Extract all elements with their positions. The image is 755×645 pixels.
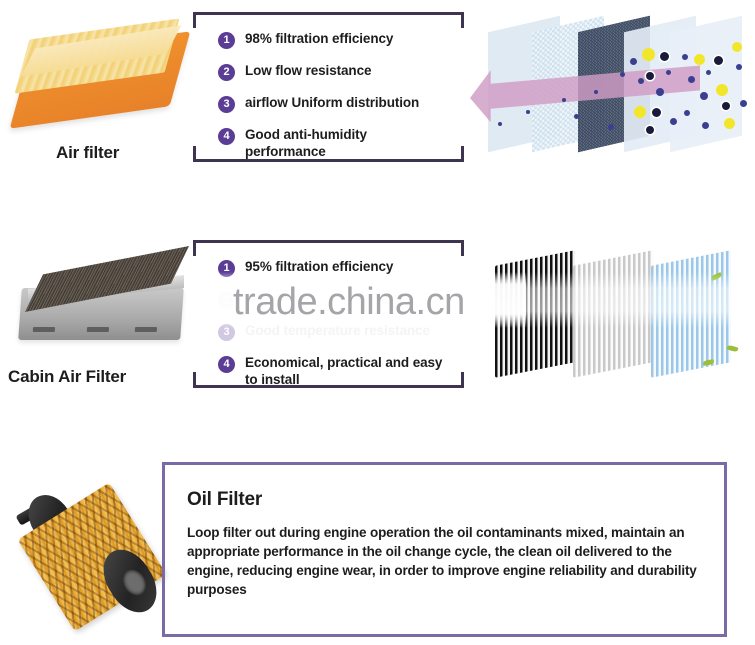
oil-filter-description-box: Oil Filter Loop filter out during engine…: [162, 462, 727, 637]
section-oil-filter: Oil Filter Loop filter out during engine…: [0, 0, 755, 645]
oil-filter-title: Oil Filter: [187, 489, 262, 511]
oil-filter-cartridge-icon: [8, 485, 173, 630]
product-infographic-page: Air filter 1 98% filtration efficiency 2…: [0, 0, 755, 645]
oil-filter-description: Loop filter out during engine operation …: [187, 523, 707, 600]
